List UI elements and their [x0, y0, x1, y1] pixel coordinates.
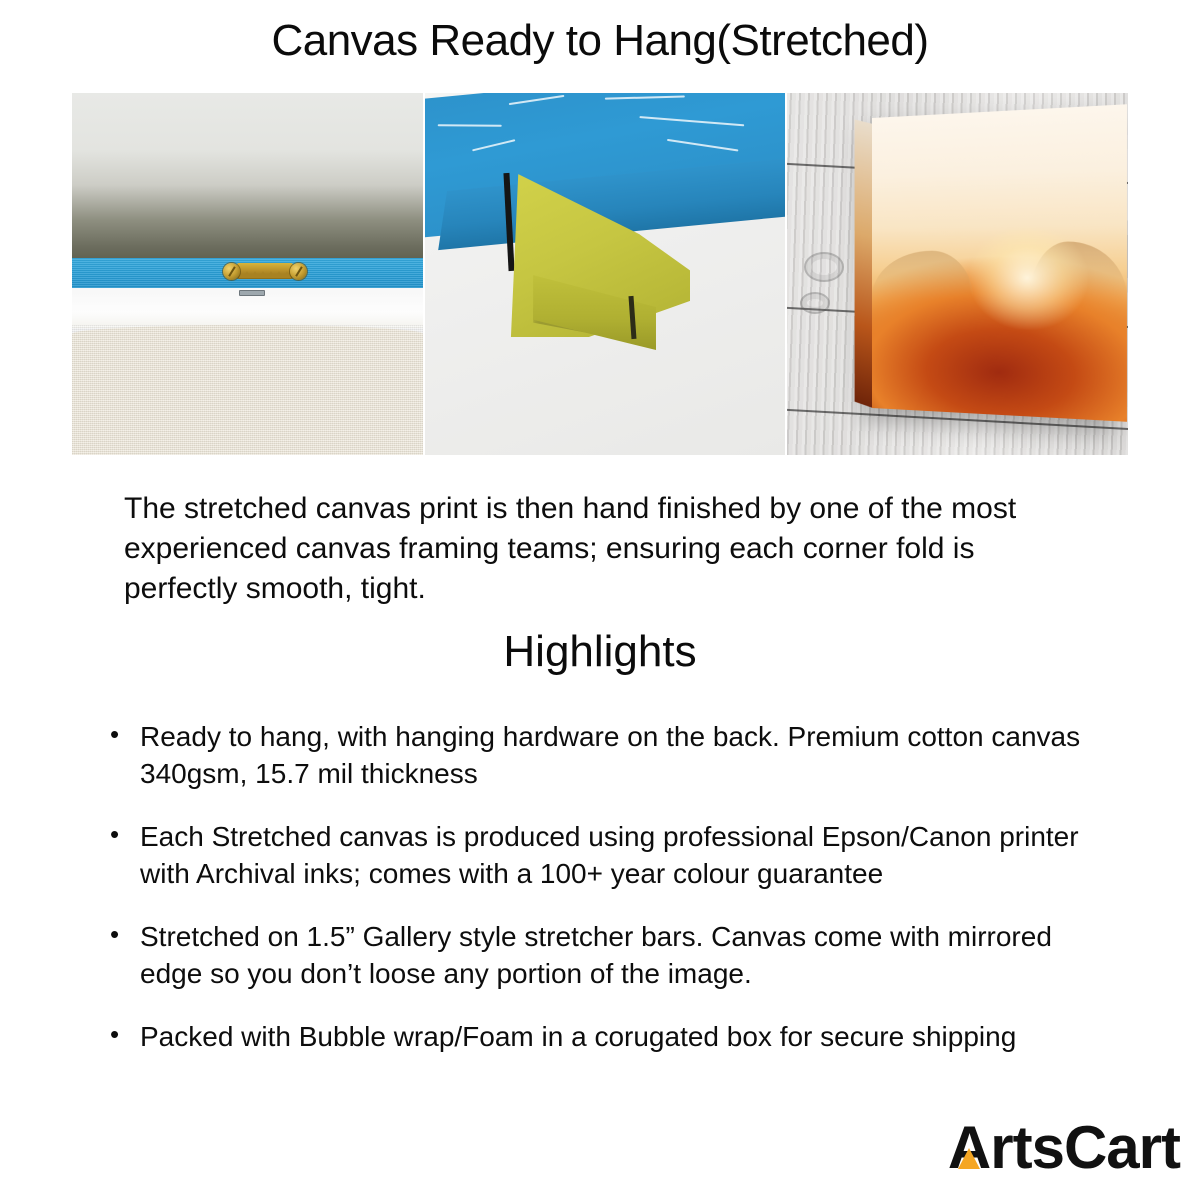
orange-triangle-icon: [958, 1148, 980, 1169]
intro-paragraph: The stretched canvas print is then hand …: [124, 489, 1084, 609]
list-item: • Each Stretched canvas is produced usin…: [104, 818, 1114, 892]
hanger-sawtooth: [239, 270, 291, 278]
cloud-wisp: [508, 95, 564, 105]
logo-letter-a: A: [948, 1118, 990, 1178]
cloud-wisp: [666, 139, 738, 152]
list-item-text: Packed with Bubble wrap/Foam in a coruga…: [140, 1021, 1016, 1052]
brand-logo: A rtsCart: [948, 1118, 1180, 1178]
cloud-wisp: [438, 125, 502, 128]
canvas-back-shadow: [72, 93, 423, 260]
highlights-list: • Ready to hang, with hanging hardware o…: [104, 718, 1114, 1081]
sun-glow: [968, 226, 1088, 332]
cloud-wisp: [605, 96, 686, 100]
bullet-marker: •: [110, 716, 119, 753]
product-image-gallery: [72, 93, 1128, 455]
list-item: • Ready to hang, with hanging hardware o…: [104, 718, 1114, 792]
raw-canvas-texture: [72, 325, 423, 455]
bullet-marker: •: [110, 1016, 119, 1053]
page-title: Canvas Ready to Hang(Stretched): [0, 16, 1200, 66]
gallery-image-corner-fold-detail: [425, 93, 784, 455]
list-item: • Stretched on 1.5” Gallery style stretc…: [104, 918, 1114, 992]
highlights-heading: Highlights: [0, 627, 1200, 677]
list-item-text: Each Stretched canvas is produced using …: [140, 821, 1079, 889]
bullet-marker: •: [110, 916, 119, 953]
cloud-wisp: [472, 140, 516, 152]
gallery-image-canvas-back-hardware: [72, 93, 423, 455]
wood-knot: [804, 252, 844, 282]
sawtooth-hanger-icon: [223, 261, 307, 283]
sunset-landscape-print: [872, 105, 1127, 422]
canvas-wrapped-edge: [855, 120, 873, 408]
landscape-hill-left: [872, 251, 973, 299]
list-item-text: Ready to hang, with hanging hardware on …: [140, 721, 1080, 789]
cloud-wisp: [640, 116, 744, 126]
bullet-marker: •: [110, 816, 119, 853]
hanger-screw-right: [290, 263, 307, 280]
product-info-page: Canvas Ready to Hang(Stretched): [0, 0, 1200, 1200]
hanger-metal-tab: [239, 290, 265, 296]
list-item-text: Stretched on 1.5” Gallery style stretche…: [140, 921, 1052, 989]
hung-canvas-artwork: [872, 105, 1127, 422]
gallery-image-hung-canvas: [787, 93, 1128, 455]
list-item: • Packed with Bubble wrap/Foam in a coru…: [104, 1018, 1114, 1055]
logo-text-rest: rtsCart: [990, 1118, 1180, 1178]
